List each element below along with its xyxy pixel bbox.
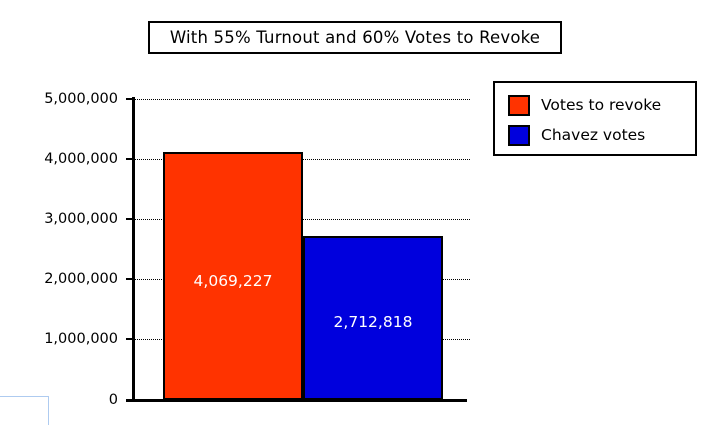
chart-legend: Votes to revoke Chavez votes — [493, 81, 697, 156]
gridline-5000000 — [133, 99, 470, 100]
spreadsheet-cell-border-artifact — [0, 396, 49, 425]
y-axis-line — [132, 97, 135, 402]
legend-swatch-votes-to-revoke — [508, 95, 530, 116]
bar-chavez-votes[interactable]: 2,712,818 — [303, 236, 443, 400]
y-axis-label-4000000: 4,000,000 — [44, 151, 118, 167]
y-axis-label-2000000: 2,000,000 — [44, 271, 118, 287]
y-axis-label-5000000: 5,000,000 — [44, 91, 118, 107]
legend-label-votes-to-revoke: Votes to revoke — [541, 96, 661, 114]
y-axis-label-3000000: 3,000,000 — [44, 211, 118, 227]
bar-votes-to-revoke[interactable]: 4,069,227 — [163, 152, 303, 400]
legend-label-chavez-votes: Chavez votes — [541, 126, 645, 144]
legend-item-votes-to-revoke[interactable]: Votes to revoke — [508, 90, 695, 120]
bar-value-chavez-votes: 2,712,818 — [305, 313, 441, 331]
plot-area: 5,000,000 4,000,000 3,000,000 2,000,000 … — [0, 0, 706, 425]
legend-item-chavez-votes[interactable]: Chavez votes — [508, 120, 695, 150]
bar-value-votes-to-revoke: 4,069,227 — [165, 272, 301, 290]
legend-swatch-chavez-votes — [508, 125, 530, 146]
chart-container: With 55% Turnout and 60% Votes to Revoke… — [0, 0, 706, 425]
y-axis-label-0: 0 — [109, 392, 118, 408]
y-axis-label-1000000: 1,000,000 — [44, 331, 118, 347]
